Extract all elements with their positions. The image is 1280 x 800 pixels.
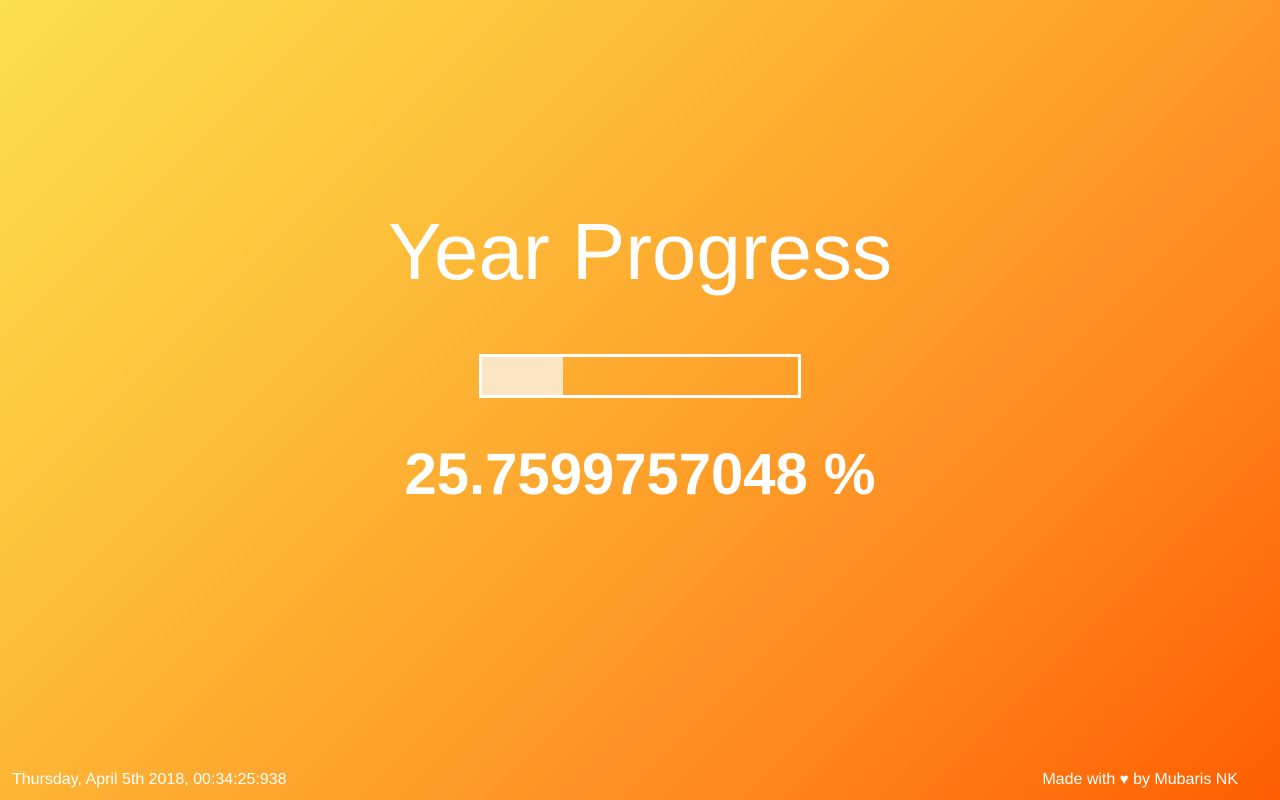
year-progress-panel: Year Progress 25.7599757048 % bbox=[0, 212, 1280, 504]
current-timestamp: Thursday, April 5th 2018, 00:34:25:938 bbox=[12, 772, 287, 788]
page-stage: Year Progress 25.7599757048 % bbox=[0, 0, 1280, 800]
year-progress-bar bbox=[479, 354, 801, 398]
heart-icon: ♥ bbox=[1120, 772, 1129, 787]
progress-percent-label: 25.7599757048 % bbox=[405, 446, 876, 504]
footer-bar: Thursday, April 5th 2018, 00:34:25:938 M… bbox=[0, 760, 1280, 800]
credit-prefix: Made with bbox=[1042, 771, 1115, 788]
credit-suffix: by Mubaris NK bbox=[1133, 771, 1238, 788]
credit-text: Made with ♥ by Mubaris NK bbox=[1042, 772, 1268, 788]
progress-container bbox=[479, 354, 801, 398]
progress-fill bbox=[482, 357, 563, 395]
page-title: Year Progress bbox=[388, 212, 892, 292]
